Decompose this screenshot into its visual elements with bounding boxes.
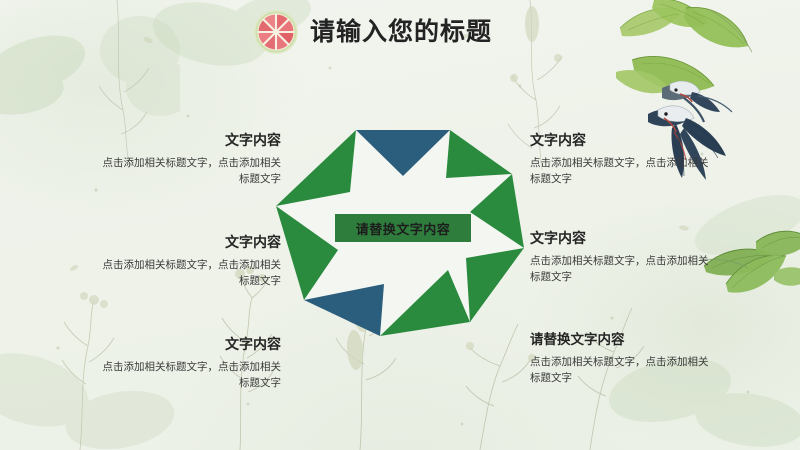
text-block-body: 点击添加相关标题文字，点击添加相关标题文字 xyxy=(95,155,281,188)
center-label-badge[interactable]: 请替换文字内容 xyxy=(335,214,471,242)
text-block-left-2[interactable]: 文字内容 点击添加相关标题文字，点击添加相关标题文字 xyxy=(95,234,281,289)
text-block-right-1[interactable]: 文字内容 点击添加相关标题文字，点击添加相关标题文字 xyxy=(530,132,716,187)
text-block-heading: 文字内容 xyxy=(95,336,281,354)
grapefruit-slice-icon xyxy=(252,8,300,56)
text-block-left-1[interactable]: 文字内容 点击添加相关标题文字，点击添加相关标题文字 xyxy=(95,132,281,187)
text-block-heading: 文字内容 xyxy=(95,132,281,150)
slide-header: 请输入您的标题 xyxy=(252,8,492,56)
text-block-heading: 文字内容 xyxy=(530,132,716,150)
center-label-text: 请替换文字内容 xyxy=(356,219,451,238)
text-block-heading: 文字内容 xyxy=(530,230,716,248)
text-block-heading: 文字内容 xyxy=(95,234,281,252)
text-block-body: 点击添加相关标题文字，点击添加相关标题文字 xyxy=(530,155,716,188)
slide-canvas: 请输入您的标题 请替换文字内容 文字内容 点击添加相关标题文字，点击添加相关标题… xyxy=(0,0,800,450)
text-block-left-3[interactable]: 文字内容 点击添加相关标题文字，点击添加相关标题文字 xyxy=(95,336,281,391)
text-block-right-3[interactable]: 请替换文字内容 点击添加相关标题文字，点击添加相关标题文字 xyxy=(530,332,716,386)
text-block-body: 点击添加相关标题文字，点击添加相关标题文字 xyxy=(530,354,716,387)
text-block-body: 点击添加相关标题文字，点击添加相关标题文字 xyxy=(95,257,281,290)
text-block-body: 点击添加相关标题文字，点击添加相关标题文字 xyxy=(530,253,716,286)
text-block-right-2[interactable]: 文字内容 点击添加相关标题文字，点击添加相关标题文字 xyxy=(530,230,716,285)
text-block-body: 点击添加相关标题文字，点击添加相关标题文字 xyxy=(95,359,281,392)
watercolor-leaves-top-right xyxy=(612,0,800,114)
star-point-lower-right xyxy=(466,248,524,322)
text-block-heading: 请替换文字内容 xyxy=(530,332,716,349)
page-title: 请输入您的标题 xyxy=(310,8,492,56)
star-point-upper-right xyxy=(446,130,512,178)
